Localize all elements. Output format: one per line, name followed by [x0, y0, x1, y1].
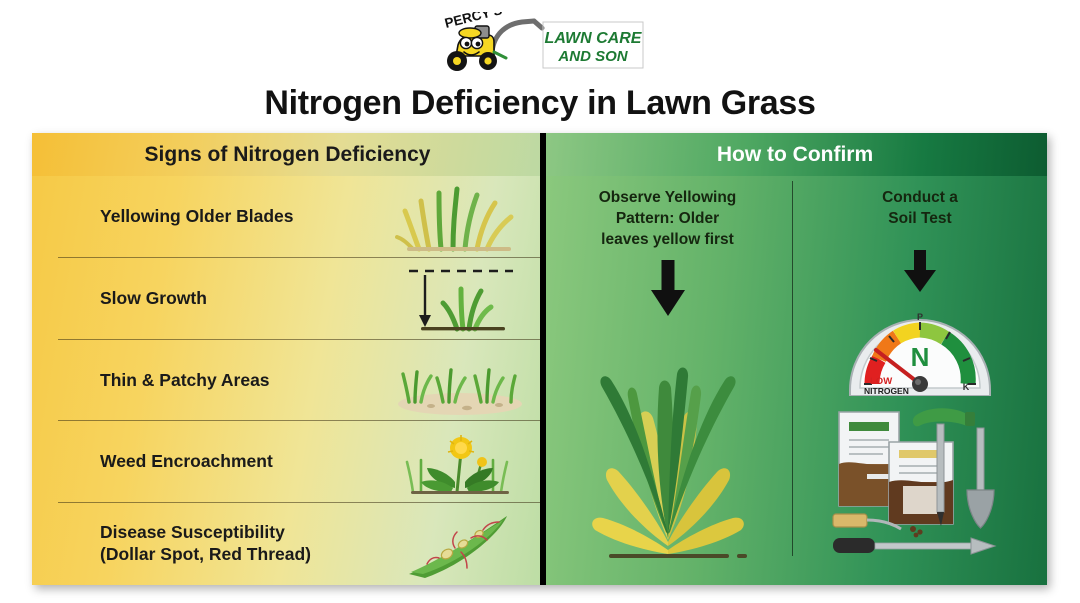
logo-line2-text: AND SON	[557, 48, 628, 65]
list-item[interactable]: Weed Encroachment	[32, 421, 543, 503]
observe-caption: Observe Yellowing Pattern: Older leaves …	[543, 176, 792, 251]
observe-caption-line1: Observe Yellowing	[543, 188, 792, 209]
gauge-status-line2: NITROGEN	[864, 386, 909, 396]
list-item[interactable]: Slow Growth	[32, 258, 543, 340]
soil-caption-line1: Conduct a	[793, 188, 1047, 209]
yellowing-grass-tuft-icon	[395, 181, 525, 253]
dandelion-weed-icon	[395, 426, 525, 498]
list-item[interactable]: Yellowing Older Blades	[32, 176, 543, 258]
logo-line1-text: LAWN CARE	[545, 30, 643, 47]
sign-sublabel: (Dollar Spot, Red Thread)	[100, 544, 370, 566]
observe-caption-line2: Pattern: Older	[543, 209, 792, 230]
infographic-panel: Signs of Nitrogen Deficiency How to Conf…	[32, 133, 1047, 585]
list-item[interactable]: Thin & Patchy Areas	[32, 340, 543, 422]
soil-test-section: Conduct a Soil Test	[793, 176, 1047, 585]
slow-growth-arrow-icon	[395, 263, 525, 335]
gauge-label-p: P	[917, 312, 923, 322]
signs-list: Yellowing Older Blades	[32, 176, 543, 585]
confirm-column-header: How to Confirm	[543, 133, 1047, 176]
sign-label: Weed Encroachment	[100, 451, 370, 473]
page-title: Nitrogen Deficiency in Lawn Grass	[0, 84, 1080, 123]
diseased-blade-icon	[395, 508, 525, 580]
brand-logo: PERCY'S LAWN CARE AND SON	[430, 12, 650, 78]
npk-gauge-icon: P K N LOW NITROGEN	[846, 296, 994, 396]
soil-test-kit-icon	[827, 398, 1013, 556]
gauge-label-k: K	[963, 382, 970, 392]
observe-section: Observe Yellowing Pattern: Older leaves …	[543, 176, 792, 585]
observe-caption-line3: leaves yellow first	[543, 230, 792, 251]
sign-label: Yellowing Older Blades	[100, 206, 370, 228]
confirm-subcolumn-divider	[792, 181, 793, 556]
patchy-turf-icon	[395, 344, 525, 416]
soil-caption-line2: Soil Test	[793, 209, 1047, 230]
sign-label: Slow Growth	[100, 288, 370, 310]
soil-test-caption: Conduct a Soil Test	[793, 176, 1047, 230]
sign-label: Disease Susceptibility	[100, 522, 370, 544]
signs-column-header: Signs of Nitrogen Deficiency	[32, 133, 543, 176]
grass-plant-yellow-outer-leaves-icon	[565, 254, 771, 572]
down-arrow-icon	[900, 248, 940, 294]
list-item[interactable]: Disease Susceptibility (Dollar Spot, Red…	[32, 503, 543, 585]
sign-label: Thin & Patchy Areas	[100, 370, 370, 392]
column-divider	[540, 133, 546, 585]
gauge-label-n: N	[911, 342, 930, 372]
